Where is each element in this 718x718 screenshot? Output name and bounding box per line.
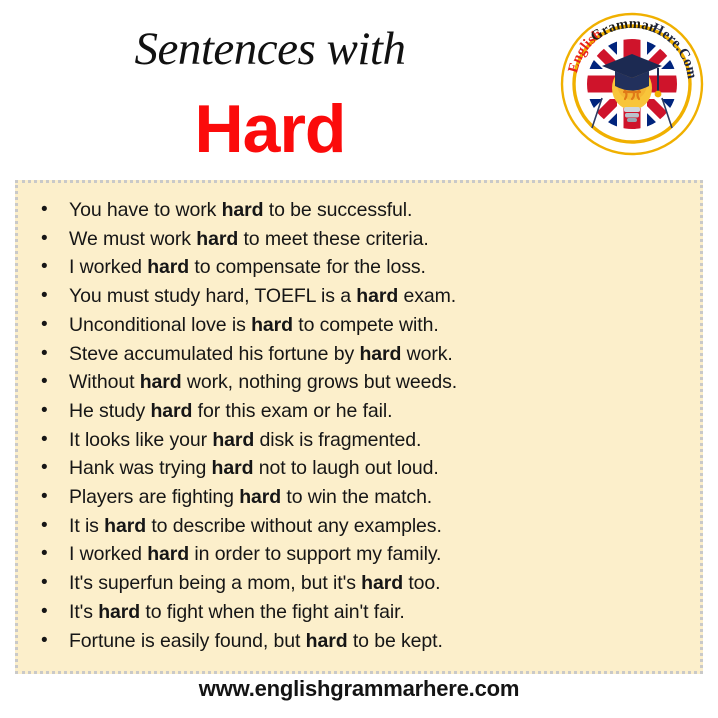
sentence-text-post: in order to support my family.: [189, 543, 441, 565]
sentence-text-post: work.: [401, 343, 452, 365]
list-item: •We must work hard to meet these criteri…: [18, 225, 700, 254]
keyword-highlight: hard: [306, 630, 348, 652]
keyword-highlight: hard: [356, 285, 398, 307]
footer-website: www.englishgrammarhere.com: [0, 676, 718, 702]
sentence-text-pre: It looks like your: [69, 429, 212, 451]
keyword-highlight: hard: [251, 314, 293, 336]
list-item: •Players are fighting hard to win the ma…: [18, 483, 700, 512]
sentence-text-post: to compete with.: [293, 314, 439, 336]
keyword-highlight: hard: [212, 429, 254, 451]
sentence-text-pre: It is: [69, 515, 104, 537]
bullet-icon: •: [41, 483, 48, 512]
list-item: •Without hard work, nothing grows but we…: [18, 368, 700, 397]
sentence-text-pre: He study: [69, 400, 150, 422]
list-item: •It's hard to fight when the fight ain't…: [18, 598, 700, 627]
sentence-text-post: to be kept.: [348, 630, 443, 652]
sentence-text-post: to win the match.: [281, 486, 432, 508]
keyword-highlight: hard: [222, 199, 264, 221]
list-item: •It's superfun being a mom, but it's har…: [18, 569, 700, 598]
page-title-prefix: Sentences with: [0, 26, 540, 73]
sentence-text-post: too.: [403, 572, 440, 594]
bullet-icon: •: [41, 454, 48, 483]
bullet-icon: •: [41, 397, 48, 426]
list-item: •It is hard to describe without any exam…: [18, 512, 700, 541]
list-item: •You must study hard, TOEFL is a hard ex…: [18, 282, 700, 311]
sentence-text-pre: It's: [69, 601, 98, 623]
keyword-highlight: hard: [104, 515, 146, 537]
bullet-icon: •: [41, 311, 48, 340]
sentence-text-post: disk is fragmented.: [254, 429, 421, 451]
sentences-box: •You have to work hard to be successful.…: [15, 180, 703, 674]
bullet-icon: •: [41, 340, 48, 369]
bullet-icon: •: [41, 627, 48, 656]
sentence-text-post: to describe without any examples.: [146, 515, 442, 537]
list-item: •Steve accumulated his fortune by hard w…: [18, 340, 700, 369]
list-item: •You have to work hard to be successful.: [18, 196, 700, 225]
sentence-text-pre: Unconditional love is: [69, 314, 251, 336]
sentence-text-post: to meet these criteria.: [238, 228, 429, 250]
keyword-highlight: hard: [147, 256, 189, 278]
sentence-text-pre: I worked: [69, 543, 147, 565]
list-item: •He study hard for this exam or he fail.: [18, 397, 700, 426]
keyword-highlight: hard: [196, 228, 238, 250]
sentence-text-post: to compensate for the loss.: [189, 256, 426, 278]
sentence-text-pre: I worked: [69, 256, 147, 278]
list-item: •I worked hard to compensate for the los…: [18, 253, 700, 282]
bullet-icon: •: [41, 196, 48, 225]
bullet-icon: •: [41, 368, 48, 397]
keyword-highlight: hard: [361, 572, 403, 594]
keyword-highlight: hard: [140, 371, 182, 393]
sentence-text-post: to be successful.: [263, 199, 412, 221]
bullet-icon: •: [41, 598, 48, 627]
keyword-highlight: hard: [359, 343, 401, 365]
sentence-text-pre: Players are fighting: [69, 486, 239, 508]
sentence-text-pre: You have to work: [69, 199, 222, 221]
list-item: •Fortune is easily found, but hard to be…: [18, 627, 700, 656]
keyword-highlight: hard: [147, 543, 189, 565]
sentence-text-pre: It's superfun being a mom, but it's: [69, 572, 361, 594]
sentence-text-pre: Without: [69, 371, 140, 393]
page-title-keyword: Hard: [0, 95, 540, 163]
page-header: Sentences with Hard: [0, 0, 718, 178]
list-item: •Hank was trying hard not to laugh out l…: [18, 454, 700, 483]
keyword-highlight: hard: [98, 601, 140, 623]
list-item: •Unconditional love is hard to compete w…: [18, 311, 700, 340]
sentence-text-post: work, nothing grows but weeds.: [182, 371, 457, 393]
sentence-text-post: exam.: [398, 285, 456, 307]
sentence-text-post: to fight when the fight ain't fair.: [140, 601, 405, 623]
title-block: Sentences with Hard: [0, 0, 540, 163]
sentence-text-pre: Steve accumulated his fortune by: [69, 343, 359, 365]
list-item: •It looks like your hard disk is fragmen…: [18, 426, 700, 455]
bullet-icon: •: [41, 426, 48, 455]
keyword-highlight: hard: [150, 400, 192, 422]
site-logo: English Grammar Here.Com: [558, 10, 706, 158]
bullet-icon: •: [41, 569, 48, 598]
bullet-icon: •: [41, 540, 48, 569]
sentences-list: •You have to work hard to be successful.…: [18, 183, 700, 655]
bullet-icon: •: [41, 282, 48, 311]
sentence-text-pre: You must study hard, TOEFL is a: [69, 285, 356, 307]
sentence-text-pre: Hank was trying: [69, 457, 212, 479]
sentence-text-pre: Fortune is easily found, but: [69, 630, 306, 652]
list-item: •I worked hard in order to support my fa…: [18, 540, 700, 569]
keyword-highlight: hard: [212, 457, 254, 479]
bullet-icon: •: [41, 225, 48, 254]
sentence-text-post: not to laugh out loud.: [253, 457, 438, 479]
sentence-text-post: for this exam or he fail.: [192, 400, 392, 422]
bullet-icon: •: [41, 253, 48, 282]
bullet-icon: •: [41, 512, 48, 541]
sentence-text-pre: We must work: [69, 228, 196, 250]
keyword-highlight: hard: [239, 486, 281, 508]
